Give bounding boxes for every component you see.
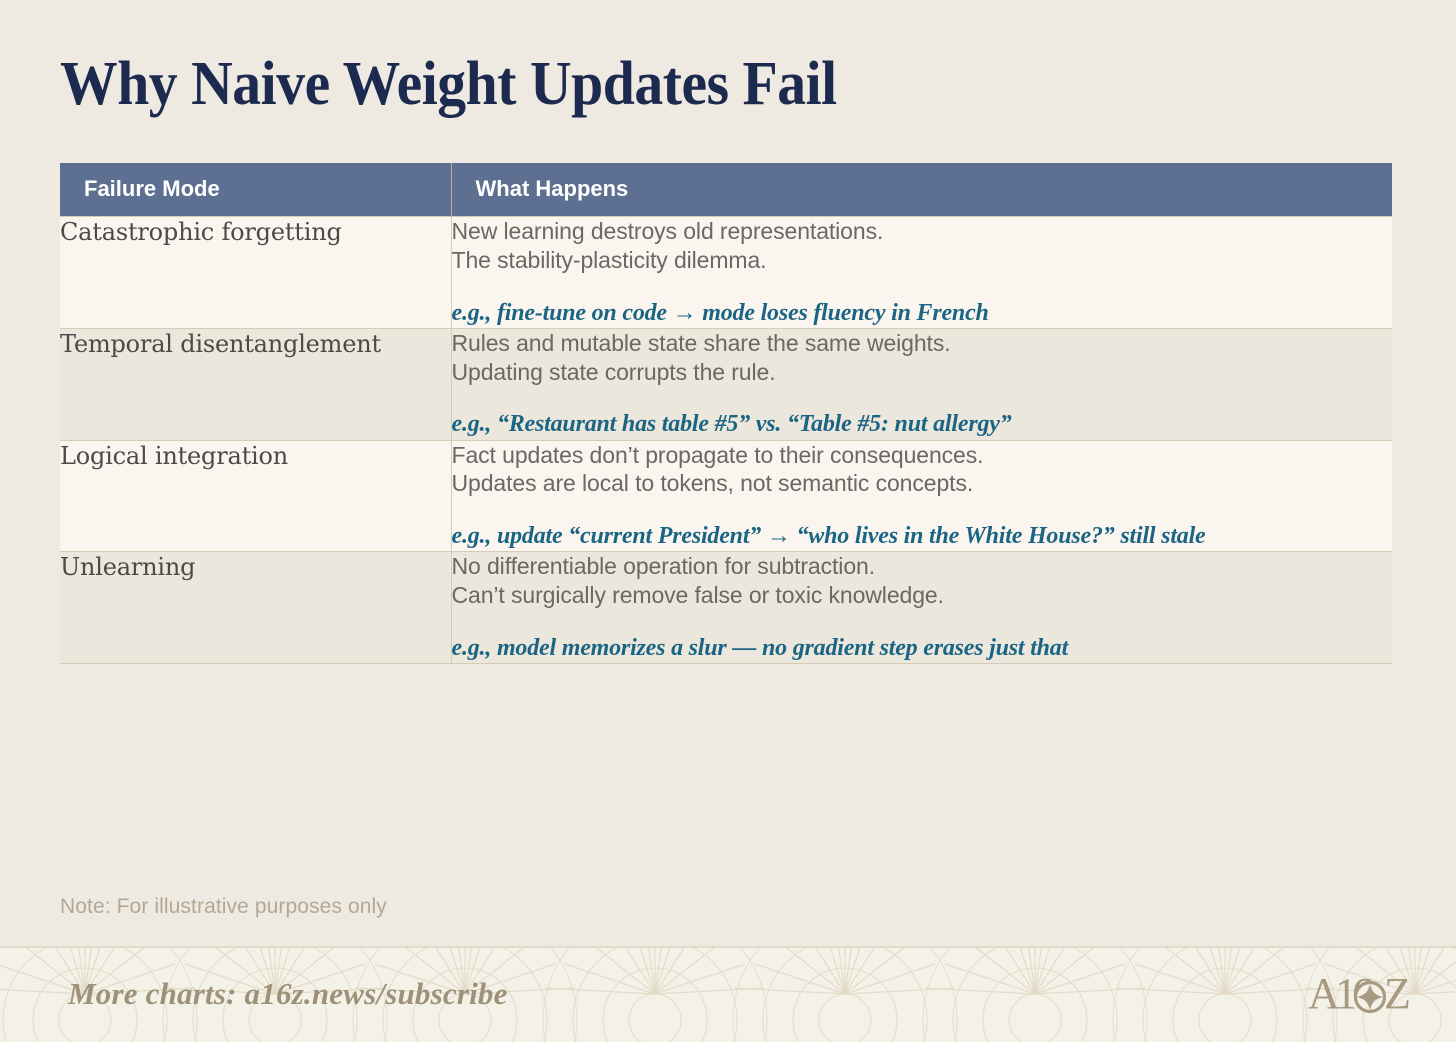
description-line-1: New learning destroys old representation…	[452, 217, 1393, 246]
table-header: Failure Mode What Happens	[60, 163, 1392, 217]
table-cell-what-happens: New learning destroys old representation…	[451, 217, 1392, 329]
failure-mode-label: Logical integration	[60, 442, 288, 470]
description-line-1: No differentiable operation for subtract…	[452, 552, 1393, 581]
example-text: e.g., “Restaurant has table #5” vs. “Tab…	[452, 410, 1393, 439]
failure-modes-table: Failure Mode What Happens Catastrophic f…	[60, 163, 1392, 664]
example-text: e.g., update “current President” → “who …	[452, 522, 1393, 551]
table-body: Catastrophic forgetting New learning des…	[60, 217, 1392, 664]
a16z-logo[interactable]: A 1 6 Z	[1308, 970, 1420, 1018]
logo-letter-z: Z	[1384, 970, 1411, 1018]
table-row: Unlearning No differentiable operation f…	[60, 552, 1392, 664]
description-line-2: The stability-plasticity dilemma.	[452, 246, 1393, 275]
description-line-1: Fact updates don’t propagate to their co…	[452, 441, 1393, 470]
description-line-2: Updates are local to tokens, not semanti…	[452, 469, 1393, 498]
what-happens-description: Rules and mutable state share the same w…	[452, 329, 1393, 387]
table-cell-failure-mode: Unlearning	[60, 552, 451, 664]
logo-compass-emblem	[1356, 983, 1385, 1012]
table-row: Logical integration Fact updates don’t p…	[60, 440, 1392, 552]
description-line-2: Can’t surgically remove false or toxic k…	[452, 581, 1393, 610]
what-happens-description: Fact updates don’t propagate to their co…	[452, 441, 1393, 499]
failure-mode-label: Catastrophic forgetting	[60, 218, 342, 246]
table-cell-failure-mode: Logical integration	[60, 440, 451, 552]
what-happens-description: New learning destroys old representation…	[452, 217, 1393, 275]
failure-mode-label: Unlearning	[60, 553, 195, 581]
example-text: e.g., fine-tune on code → mode loses flu…	[452, 299, 1393, 328]
table-row: Temporal disentanglement Rules and mutab…	[60, 328, 1392, 440]
failure-mode-label: Temporal disentanglement	[60, 330, 381, 358]
example-text: e.g., model memorizes a slur — no gradie…	[452, 634, 1393, 663]
table-cell-failure-mode: Temporal disentanglement	[60, 328, 451, 440]
description-line-1: Rules and mutable state share the same w…	[452, 329, 1393, 358]
table-cell-what-happens: Rules and mutable state share the same w…	[451, 328, 1392, 440]
table-cell-what-happens: No differentiable operation for subtract…	[451, 552, 1392, 664]
slide-canvas: Why Naive Weight Updates Fail Failure Mo…	[0, 0, 1456, 1042]
table-row: Catastrophic forgetting New learning des…	[60, 217, 1392, 329]
footer-cta-link[interactable]: More charts: a16z.news/subscribe	[68, 976, 508, 1012]
slide-footer: More charts: a16z.news/subscribe A 1 6 Z	[0, 946, 1456, 1042]
column-header-failure-mode: Failure Mode	[60, 163, 451, 217]
description-line-2: Updating state corrupts the rule.	[452, 358, 1393, 387]
table-cell-failure-mode: Catastrophic forgetting	[60, 217, 451, 329]
what-happens-description: No differentiable operation for subtract…	[452, 552, 1393, 610]
table-cell-what-happens: Fact updates don’t propagate to their co…	[451, 440, 1392, 552]
table-header-row: Failure Mode What Happens	[60, 163, 1392, 217]
footnote-illustrative: Note: For illustrative purposes only	[60, 895, 387, 919]
page-title: Why Naive Weight Updates Fail	[60, 52, 837, 117]
column-header-what-happens: What Happens	[451, 163, 1392, 217]
